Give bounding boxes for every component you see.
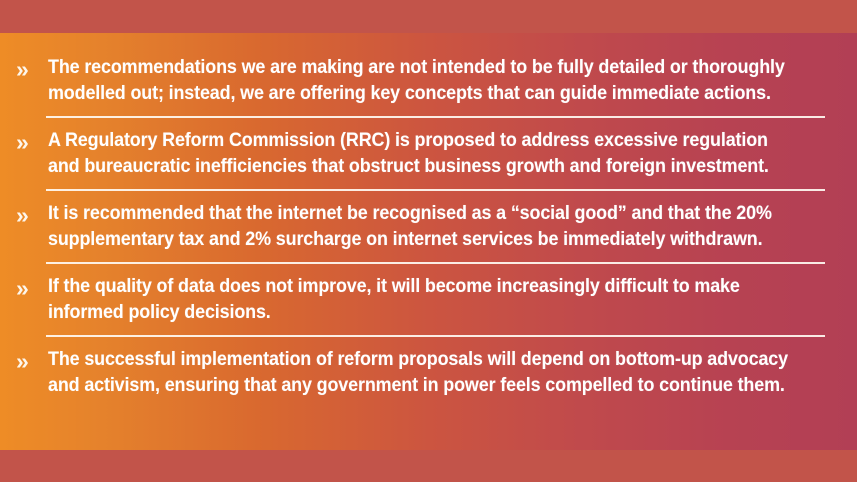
bullet-text: It is recommended that the internet be r… — [48, 201, 789, 252]
list-item: » The recommendations we are making are … — [16, 55, 841, 112]
bullet-list: » The recommendations we are making are … — [0, 33, 857, 450]
list-item: » The successful implementation of refor… — [16, 347, 841, 404]
list-item: » It is recommended that the internet be… — [16, 201, 841, 258]
list-divider — [46, 262, 825, 264]
list-item: » A Regulatory Reform Commission (RRC) i… — [16, 128, 841, 185]
list-item: » If the quality of data does not improv… — [16, 274, 841, 331]
list-divider — [46, 116, 825, 118]
chevron-double-right-icon: » — [16, 274, 44, 300]
chevron-double-right-icon: » — [16, 128, 44, 154]
bullet-text: A Regulatory Reform Commission (RRC) is … — [48, 128, 789, 179]
slide-container: » The recommendations we are making are … — [0, 0, 857, 482]
list-divider — [46, 189, 825, 191]
chevron-double-right-icon: » — [16, 201, 44, 227]
list-divider — [46, 335, 825, 337]
bullet-text: The successful implementation of reform … — [48, 347, 789, 398]
chevron-double-right-icon: » — [16, 55, 44, 81]
bullet-text: If the quality of data does not improve,… — [48, 274, 789, 325]
bullet-text: The recommendations we are making are no… — [48, 55, 789, 106]
chevron-double-right-icon: » — [16, 347, 44, 373]
